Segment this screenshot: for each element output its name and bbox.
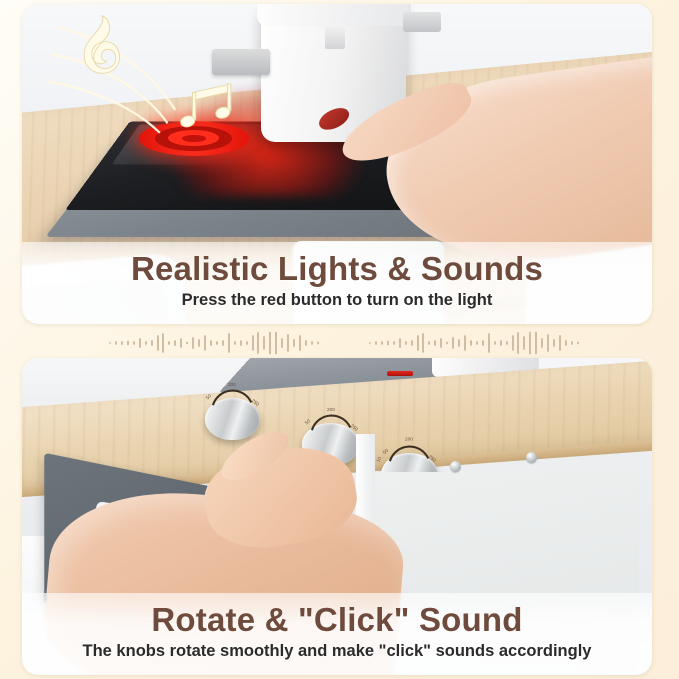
caption-rotate-click: Rotate & "Click" Sound The knobs rotate …	[22, 593, 652, 675]
burner-rings[interactable]	[139, 121, 249, 156]
screw-icon	[526, 452, 537, 463]
knob-dial-scale-left: 50 200 250	[190, 371, 274, 419]
caption-lights-sounds: Realistic Lights & Sounds Press the red …	[22, 242, 652, 324]
knob-tick-label: 200	[405, 436, 413, 442]
burner-ring-center	[182, 135, 206, 143]
pot-lid	[257, 4, 411, 26]
knob-dial-scale-right: 10 50 200 250	[366, 427, 452, 475]
caption-subtitle: Press the red button to turn on the ligh…	[22, 291, 652, 310]
audio-waveform-divider	[0, 330, 679, 356]
waveform-bars	[110, 333, 578, 354]
knob-tick-label: 50	[382, 447, 390, 455]
scene-knobs: 50 200 250 50 200 250	[22, 358, 652, 675]
pot-handle-right	[403, 12, 441, 32]
knob-tick-label: 50	[303, 419, 311, 427]
knob-tick-label: 250	[349, 424, 359, 434]
page-background: Realistic Lights & Sounds Press the red …	[0, 0, 679, 679]
red-button[interactable]	[387, 371, 412, 376]
knob-tick-label: 200	[327, 408, 335, 414]
knob-tick-label: 200	[228, 382, 236, 388]
knob-tick-label: 250	[427, 454, 437, 464]
panel-rotate-click-sound: 50 200 250 50 200 250	[22, 358, 652, 675]
caption-subtitle: The knobs rotate smoothly and make "clic…	[22, 642, 652, 661]
pot-handle-left	[212, 49, 270, 76]
knob-tick-label: 250	[250, 398, 260, 408]
oven-knob-left[interactable]: 50 200 250	[205, 398, 260, 441]
caption-title: Realistic Lights & Sounds	[22, 251, 652, 288]
scene-cooktop: Realistic Lights & Sounds Press the red …	[22, 4, 652, 324]
pot-lid-knob	[325, 26, 345, 49]
knob-tick-label: 10	[376, 455, 384, 463]
panel-realistic-lights-sounds: Realistic Lights & Sounds Press the red …	[22, 4, 652, 324]
knob-tick-label: 50	[205, 393, 213, 401]
caption-title: Rotate & "Click" Sound	[22, 602, 652, 639]
